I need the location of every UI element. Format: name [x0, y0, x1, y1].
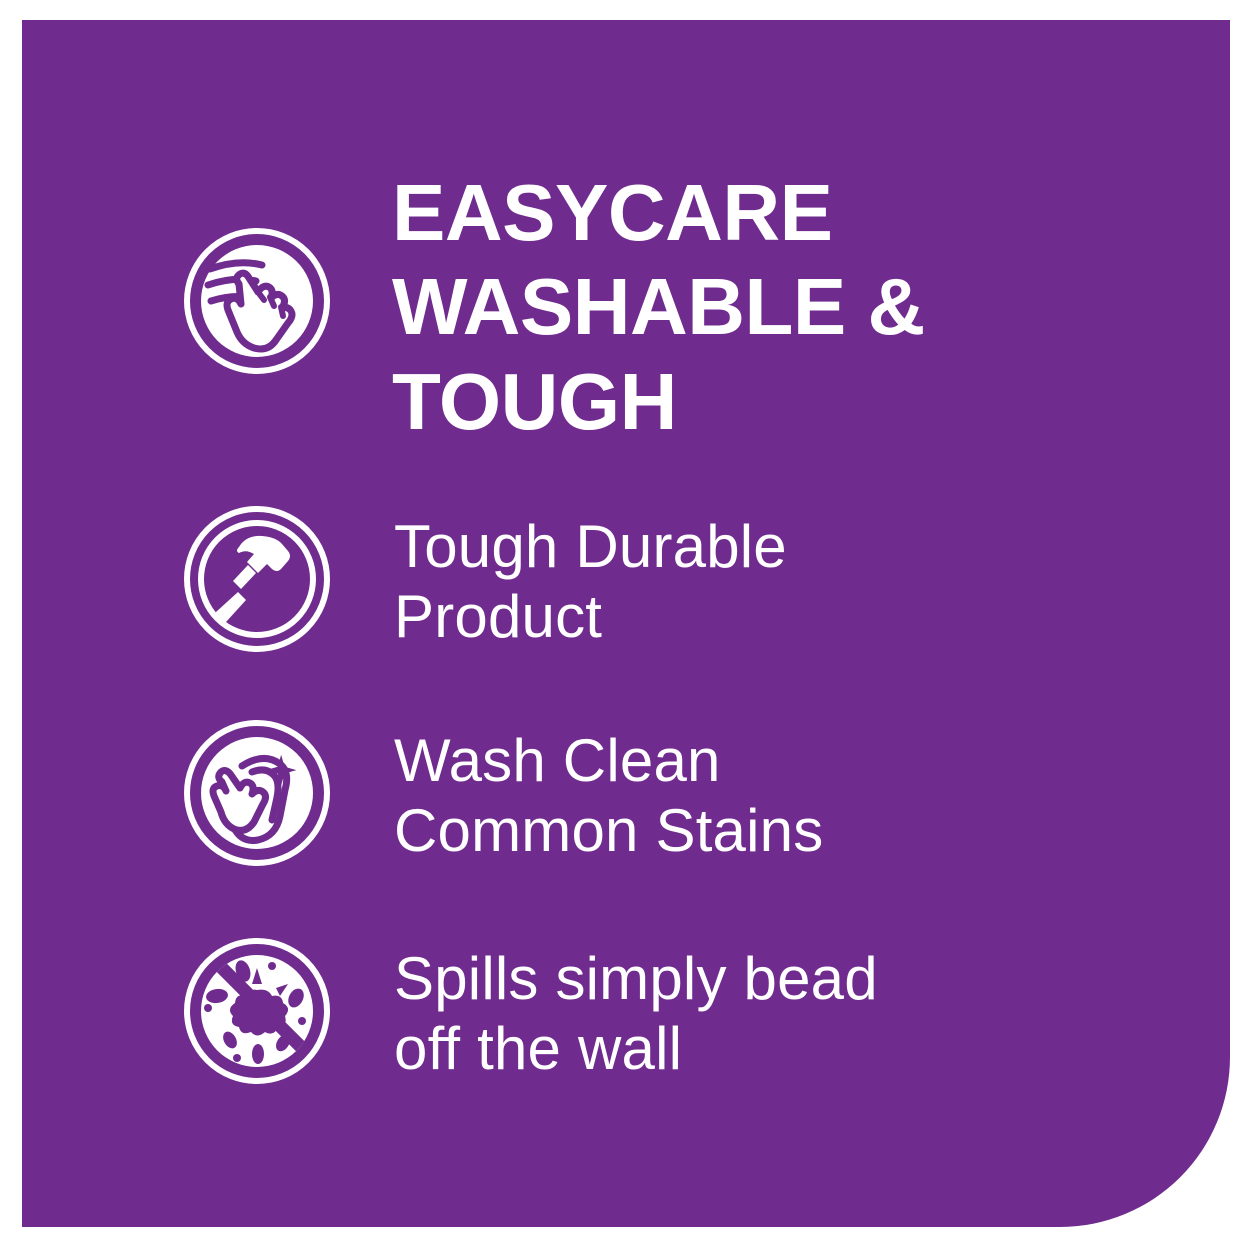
feature-line-1: Tough Durable [394, 512, 787, 582]
feature-row-tough-durable-product: Tough Durable Product [184, 506, 787, 652]
headline-line-1: EASYCARE [392, 166, 925, 260]
feature-line-2: Common Stains [394, 796, 823, 866]
hammer-icon [184, 506, 330, 652]
hand-wiping-icon [184, 228, 330, 374]
headline-line-2: WASHABLE & [392, 260, 925, 354]
feature-row-wash-clean-common-stains: Wash Clean Common Stains [184, 720, 823, 866]
feature-line-2: off the wall [394, 1014, 878, 1084]
feature-line-1: Wash Clean [394, 726, 823, 796]
feature-list: EASYCARE WASHABLE & TOUGH [22, 20, 1230, 1227]
feature-label-wash-clean-common-stains: Wash Clean Common Stains [394, 726, 823, 865]
page-title: EASYCARE WASHABLE & TOUGH [392, 166, 925, 449]
feature-row-spills-bead-off-wall: Spills simply bead off the wall [184, 938, 878, 1084]
headline-line-3: TOUGH [392, 355, 925, 449]
feature-panel: EASYCARE WASHABLE & TOUGH [22, 20, 1230, 1227]
feature-label-tough-durable-product: Tough Durable Product [394, 512, 787, 651]
no-stain-splat-icon [184, 938, 330, 1084]
hand-wiping-sparkle-icon [184, 720, 330, 866]
feature-line-2: Product [394, 582, 787, 652]
feature-label-spills-bead-off-wall: Spills simply bead off the wall [394, 944, 878, 1083]
feature-line-1: Spills simply bead [394, 944, 878, 1014]
headline-row: EASYCARE WASHABLE & TOUGH [184, 228, 925, 503]
